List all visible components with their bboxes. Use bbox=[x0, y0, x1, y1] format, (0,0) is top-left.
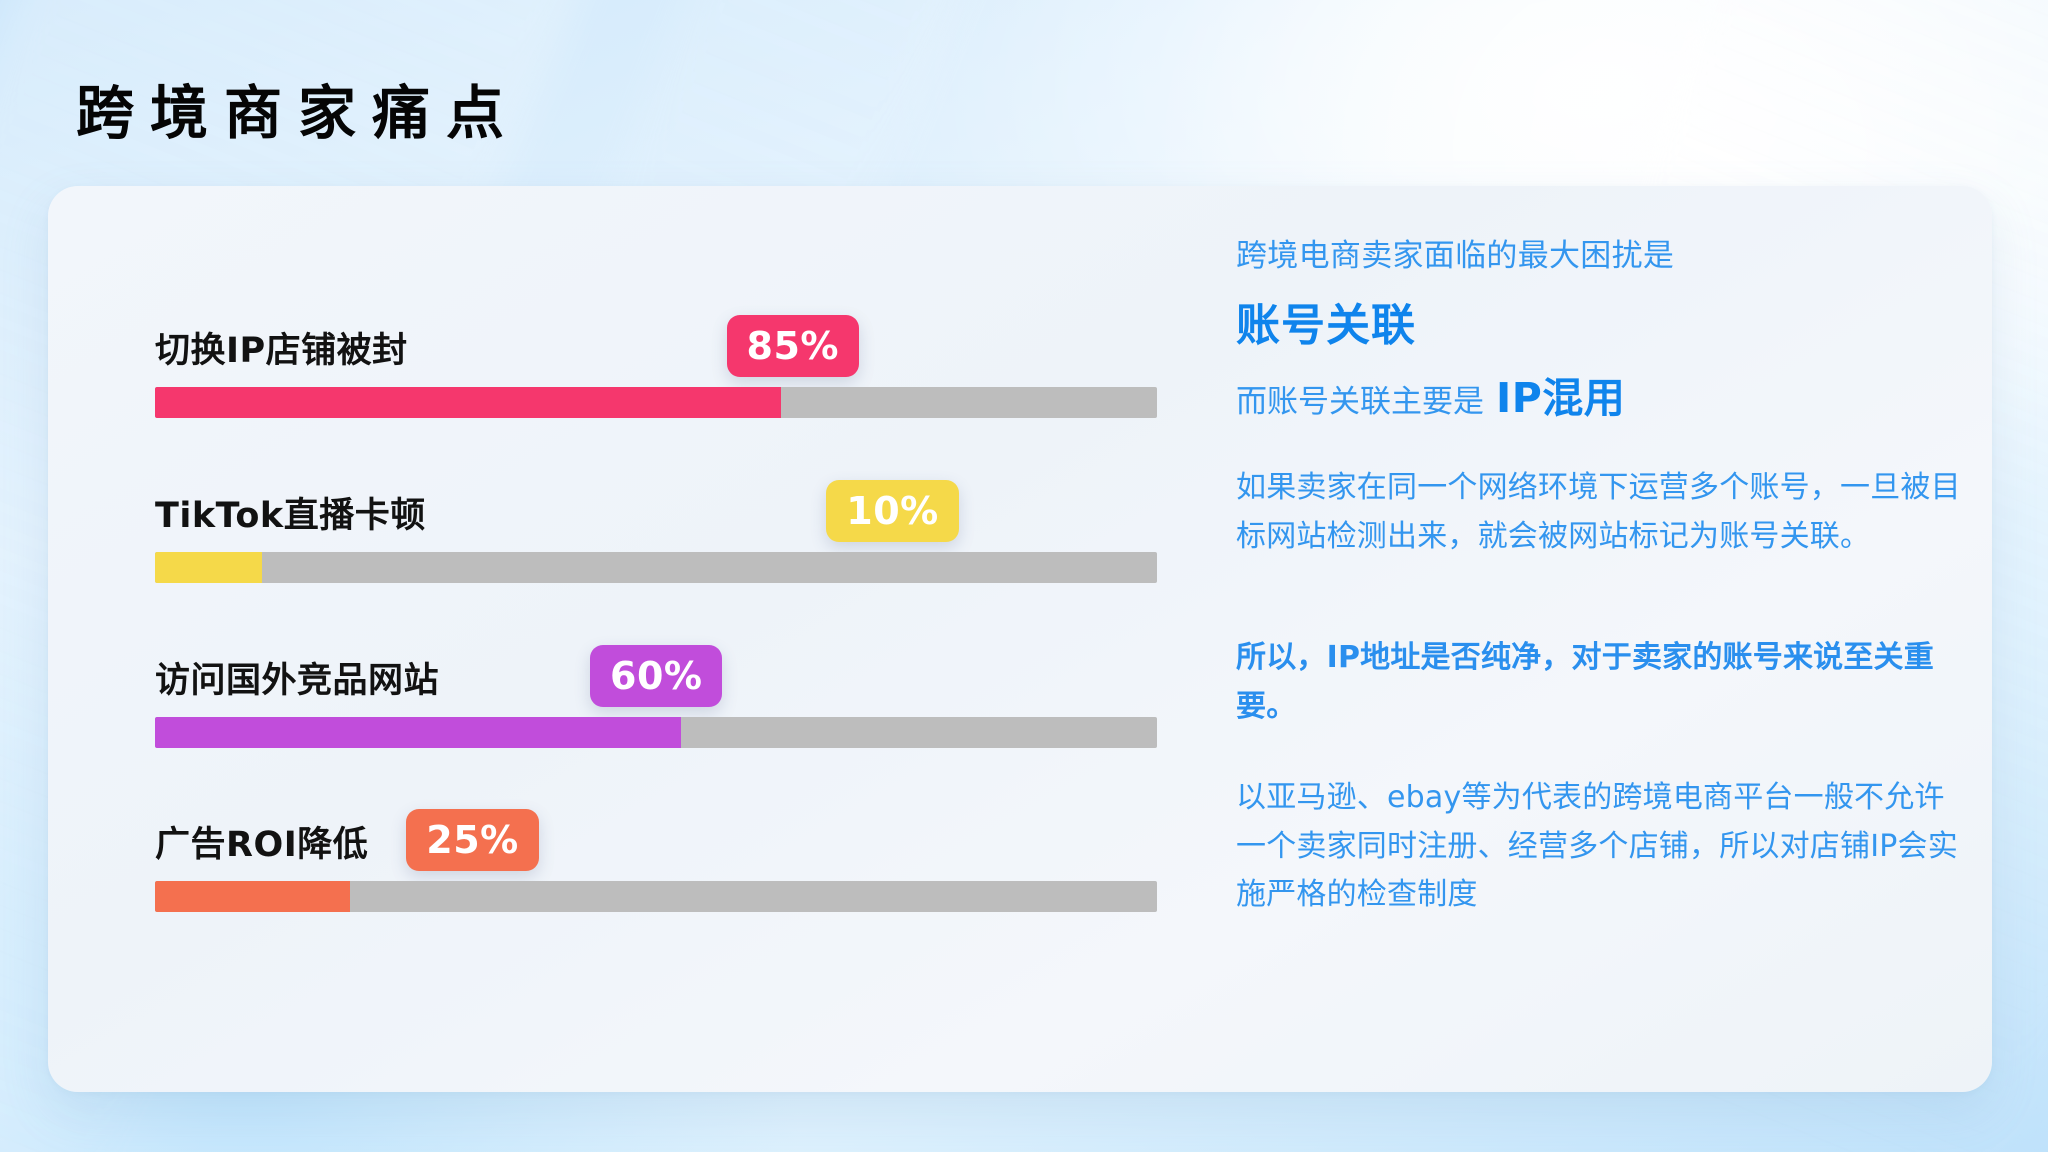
bar-row-header: TikTok直播卡顿 10% bbox=[107, 466, 1157, 544]
bar-label: 访问国外竞品网站 bbox=[155, 652, 439, 703]
bar-row: 切换IP店铺被封 85% bbox=[107, 301, 1157, 379]
keyword-ip-mixing: IP混用 bbox=[1496, 364, 1625, 424]
content-card: 切换IP店铺被封 85% TikTok直播卡顿 10% 访问国外竞品网站 bbox=[48, 186, 1992, 1092]
bar-label: TikTok直播卡顿 bbox=[155, 487, 426, 538]
bar-label: 切换IP店铺被封 bbox=[155, 322, 408, 373]
bar-row: 访问国外竞品网站 60% bbox=[107, 631, 1157, 709]
slide-canvas: 跨境商家痛点 切换IP店铺被封 85% TikTok直播卡顿 10% bbox=[0, 0, 2048, 1152]
bar-row-header: 切换IP店铺被封 85% bbox=[107, 301, 1157, 379]
bar-track bbox=[155, 552, 1157, 583]
bar-fill bbox=[155, 552, 262, 583]
sub-line: 而账号关联主要是 IP混用 bbox=[1236, 364, 1625, 424]
bar-fill bbox=[155, 881, 350, 912]
bar-value-badge: 85% bbox=[727, 315, 859, 377]
bar-fill bbox=[155, 717, 681, 748]
bar-row: TikTok直播卡顿 10% bbox=[107, 466, 1157, 544]
keyword-account-association: 账号关联 bbox=[1236, 289, 1416, 353]
bar-row: 广告ROI降低 25% bbox=[107, 795, 1157, 873]
paragraph-1: 如果卖家在同一个网络环境下运营多个账号，一旦被目标网站检测出来，就会被网站标记为… bbox=[1236, 464, 1971, 561]
bar-track bbox=[155, 717, 1157, 748]
bar-row-header: 访问国外竞品网站 60% bbox=[107, 631, 1157, 709]
page-title: 跨境商家痛点 bbox=[76, 66, 520, 150]
lead-line: 跨境电商卖家面临的最大困扰是 bbox=[1236, 234, 1674, 278]
bar-row-header: 广告ROI降低 25% bbox=[107, 795, 1157, 873]
bar-fill bbox=[155, 387, 781, 418]
bar-label: 广告ROI降低 bbox=[155, 816, 368, 867]
sub-line-prefix: 而账号关联主要是 bbox=[1236, 376, 1484, 421]
bar-track bbox=[155, 881, 1157, 912]
bar-track bbox=[155, 387, 1157, 418]
paragraph-3: 以亚马逊、ebay等为代表的跨境电商平台一般不允许一个卖家同时注册、经营多个店铺… bbox=[1236, 774, 1971, 920]
bar-value-badge: 10% bbox=[826, 480, 958, 542]
explanation-panel: 跨境电商卖家面临的最大困扰是 账号关联 而账号关联主要是 IP混用 如果卖家在同… bbox=[1232, 186, 1982, 1092]
paragraph-2: 所以，IP地址是否纯净，对于卖家的账号来说至关重要。 bbox=[1236, 634, 1971, 731]
bar-value-badge: 25% bbox=[406, 809, 538, 871]
pain-point-bar-chart: 切换IP店铺被封 85% TikTok直播卡顿 10% 访问国外竞品网站 bbox=[107, 261, 1157, 1021]
bar-value-badge: 60% bbox=[590, 645, 722, 707]
